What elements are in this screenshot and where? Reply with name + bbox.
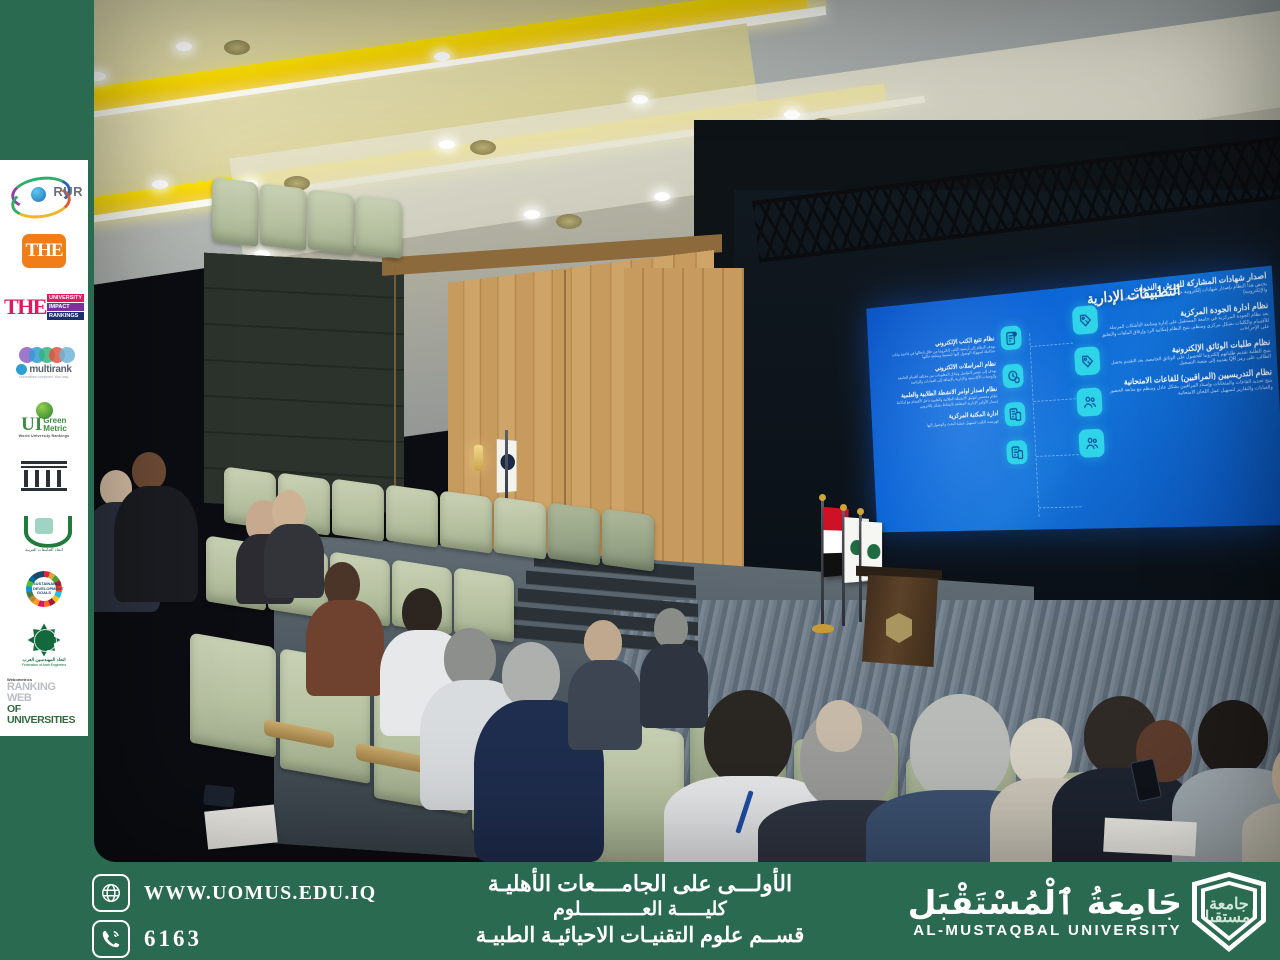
slide-item: نظام التدريسيين (المراقبين) للقاعات الام… [1102, 367, 1273, 401]
ceiling-spotlight [654, 192, 670, 201]
slide-item: نظام طلبات الوثائق الإلكترونية يتيح للطل… [1100, 337, 1271, 373]
slide-item: نظام اصدار اوامر الانشطة الطلابية والعلم… [888, 385, 998, 411]
audience-person [402, 588, 442, 636]
rur-label: RUR [53, 184, 83, 199]
audience-person-front [704, 690, 792, 786]
audience-person-front [910, 694, 1010, 802]
logo-the-impact: THE UNIVERSITY IMPACT RANKINGS [5, 279, 83, 335]
clock-chat-icon [1002, 363, 1024, 388]
ceiling-vent [470, 140, 496, 155]
flag-finial [819, 494, 826, 501]
impact-line-3: RANKINGS [47, 312, 84, 320]
poster-root: RUR THE THE UNIVERSITY IMPACT RANKINGS [0, 0, 1280, 960]
audience-person [114, 486, 198, 602]
slide-left-column: نظام تتبع الكتب الإلكتروني يهدف النظام إ… [885, 335, 999, 436]
ceiling-spotlight [632, 95, 648, 104]
slide-item: ادارة المكتبة المركزية فهرست الكتب لتسهي… [889, 410, 999, 430]
audience-person [132, 452, 166, 490]
ceiling-spotlight [152, 180, 168, 189]
footer-bar: WWW.UOMUS.EDU.IQ 6163 الأولـــى على الجا… [0, 862, 1280, 960]
audience-person [568, 660, 642, 750]
audience-person [1010, 718, 1072, 786]
people-group-icon [1078, 429, 1105, 458]
event-photo: التطبيقات الإدارية نظام تتبع الكتب الإلك… [94, 0, 1280, 862]
ceiling-spotlight [439, 140, 455, 149]
sdg-label: SUSTAINABLE DEVELOPMENT GOALS [33, 582, 55, 596]
logo-webometrics: Webometrics RANKING WEB OF UNIVERSITIES [5, 674, 83, 730]
audience-person [584, 620, 622, 664]
logo-qs-rankings [5, 448, 83, 504]
logo-federation-arab-engineers: اتحاد المهندسين العرب Federation of Arab… [5, 617, 83, 673]
tag-scan-icon [1072, 305, 1098, 335]
webometrics-line-1: RANKING WEB [7, 682, 81, 704]
university-brand: جَامِعَةُ ٱلْمُسْتَقْبَل AL-MUSTAQBAL UN… [908, 872, 1266, 952]
audience-person [502, 642, 560, 708]
audience-person [1198, 700, 1268, 776]
flag-finial [840, 504, 847, 511]
slide-icons-left [1000, 322, 1064, 479]
audience-person [640, 644, 708, 728]
the-impact-label: THE [4, 294, 46, 320]
paper-handout [1103, 818, 1197, 857]
star-emblem-icon [28, 623, 61, 656]
fae-english-caption: Federation of Arab Engineers [22, 663, 66, 667]
file-copy-icon [1004, 402, 1026, 427]
ceiling-spotlight [176, 42, 192, 51]
slide-right-column: اصدار شهادات المشاركة للورش والندوات يخت… [1097, 270, 1274, 408]
logo-sdg-goals: SUSTAINABLE DEVELOPMENT GOALS [5, 561, 83, 617]
qs-pillars-icon [21, 461, 67, 491]
brand-arabic: جَامِعَةُ ٱلْمُسْتَقْبَل [908, 885, 1182, 921]
ranking-logos-strip: RUR THE THE UNIVERSITY IMPACT RANKINGS [0, 160, 88, 736]
the-label: THE [22, 234, 66, 268]
tag-scan-icon [1074, 346, 1101, 376]
logo-the: THE [5, 222, 83, 278]
ui-label: UI [21, 417, 42, 432]
ceiling-spotlight [434, 52, 450, 61]
audience-person [444, 628, 496, 688]
sdg-wheel-icon: SUSTAINABLE DEVELOPMENT GOALS [26, 571, 62, 607]
logo-rur: RUR [5, 166, 83, 222]
audience-person [654, 608, 688, 648]
impact-line-2: IMPACT [47, 303, 84, 311]
flag-base [812, 624, 834, 633]
doc-check-icon [1000, 325, 1022, 350]
smartphone [203, 784, 235, 807]
logo-ui-greenmetric: UI Green Metric World University Ranking… [5, 392, 83, 448]
audience-person [264, 524, 324, 598]
university-crest-icon: جامعة المستقبل [1192, 872, 1266, 952]
file-copy-icon [1006, 440, 1028, 465]
webometrics-line-2: OF UNIVERSITIES [7, 704, 81, 726]
multirank-dot-icon [16, 364, 27, 375]
slide-item: نظام المراسلات الالكتروني يهدف إلى تيسير… [886, 360, 996, 387]
presentation-screen: التطبيقات الإدارية نظام تتبع الكتب الإلك… [866, 266, 1280, 533]
flag-finial [857, 508, 864, 515]
multirank-caption: Universities compared. Your way. [19, 375, 69, 379]
speaker-podium [862, 575, 938, 667]
wreath-icon [24, 514, 64, 546]
audience-person [816, 700, 862, 752]
logo-multirank: multirank Universities compared. Your wa… [5, 335, 83, 391]
paper-handout [204, 804, 278, 849]
logo-association-arab-universities: اتحاد الجامعات العربية [5, 504, 83, 560]
multirank-circles-icon [19, 347, 69, 363]
ceiling-vent [224, 40, 250, 55]
people-group-icon [1076, 387, 1103, 417]
greenmetric-caption: World University Rankings [19, 434, 70, 438]
brand-english: AL-MUSTAQBAL UNIVERSITY [908, 922, 1182, 939]
multirank-label: multirank [29, 364, 71, 375]
ceiling-spotlight [524, 210, 540, 219]
audience-person [306, 600, 384, 696]
ceiling-vent [556, 214, 582, 229]
greenmetric-word-2: Metric [43, 425, 67, 433]
ceiling-spotlight [784, 110, 800, 119]
wall-sconce-light [474, 445, 483, 471]
impact-line-1: UNIVERSITY [47, 294, 84, 302]
